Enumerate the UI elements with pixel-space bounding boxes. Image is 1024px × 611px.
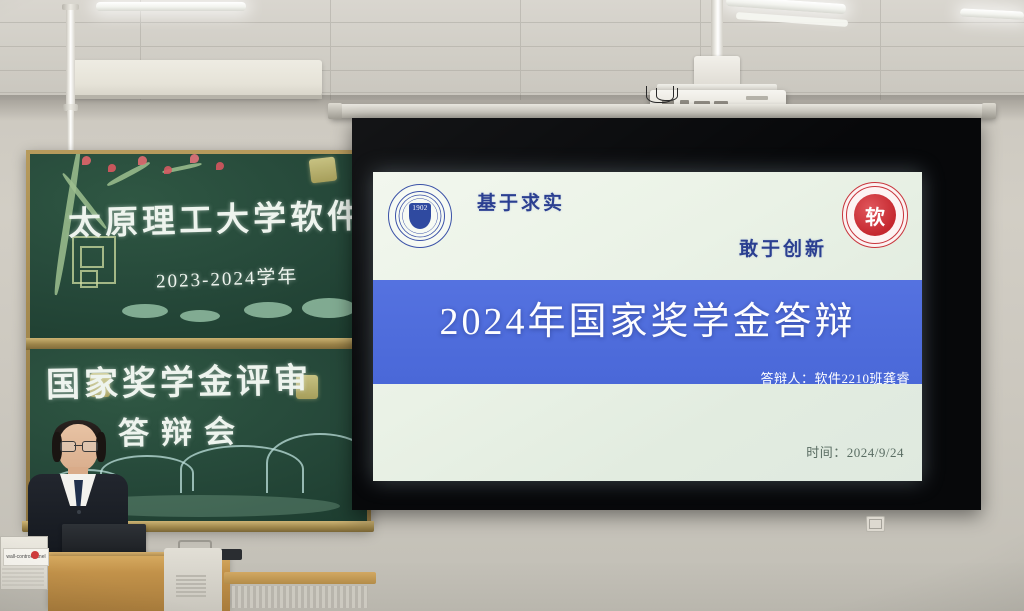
projector-mount-pole	[711, 0, 723, 58]
seal-year-label: 1902	[410, 204, 429, 212]
slide-footer-area	[373, 384, 922, 481]
slide-header-area: 1902 软 基于求实 敢于创新	[373, 172, 922, 280]
wall-light-valance-lip	[72, 95, 322, 99]
chalkboard-line-3: 国家奖学金评审	[46, 353, 313, 407]
chalkboard-line-1: 太原理工大学软件学院	[67, 187, 367, 245]
projection-screen-roller[interactable]	[330, 104, 996, 118]
projection-screen-roller-cap-right	[982, 103, 996, 119]
chalkboard-line-2: 2023-2024学年	[156, 262, 299, 294]
control-panel-indicator-icon	[31, 551, 39, 559]
slide-date-line: 时间：2024/9/24	[806, 442, 904, 461]
bench-lower-rail	[232, 586, 368, 608]
slide-slogan-right: 敢于创新	[739, 234, 827, 261]
ceiling-light-tube-left	[96, 2, 246, 11]
college-of-software-seal-icon: 软	[842, 182, 908, 248]
wall-socket-slot-icon	[869, 519, 882, 529]
support-pole	[66, 6, 75, 110]
glasses-icon	[60, 441, 96, 450]
support-pole-joint-top	[62, 4, 79, 10]
chalkboard-line-4: 答辩会	[118, 406, 248, 453]
control-panel-speaker-grille	[2, 566, 44, 586]
classroom-scene: 太原理工大学软件学院 2023-2024学年 国家奖学金评审 答辩会	[0, 0, 1024, 611]
projection-screen-roller-cap-left	[328, 103, 342, 119]
slide-slogan-left: 基于求实	[477, 188, 565, 215]
classroom-bench	[224, 572, 376, 584]
projector-cable-2	[656, 88, 678, 101]
cabinet-vent-grille	[176, 575, 206, 597]
wall-control-panel-label: wall-control-panel	[3, 548, 49, 566]
wall-light-valance	[72, 60, 322, 98]
chalk-lantern-upper	[309, 157, 338, 184]
taiyuan-university-seal-icon: 1902	[388, 184, 452, 248]
presentation-slide: 1902 软 基于求实 敢于创新 2024年国家奖学金答辩 答辩人：软件2210…	[373, 172, 922, 481]
chalkboard-upper-panel: 太原理工大学软件学院 2023-2024学年	[30, 154, 367, 340]
slide-title: 2024年国家奖学金答辩	[373, 290, 922, 345]
